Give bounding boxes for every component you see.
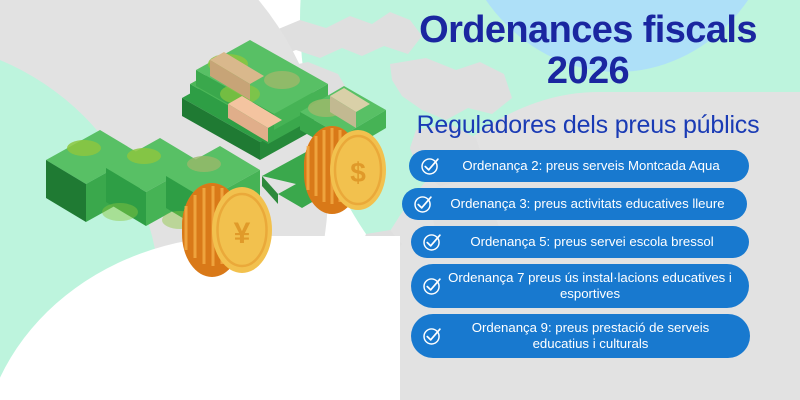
list-item-ordinance-3[interactable]: Ordenança 3: preus activitats educatives… [402, 188, 747, 220]
page-title: Ordenances fiscals 2026 [392, 10, 784, 91]
title-line-1: Ordenances fiscals [392, 10, 784, 51]
check-circle-icon [421, 231, 443, 253]
ordinance-list: Ordenança 2: preus serveis Montcada Aqua… [392, 150, 792, 364]
list-item-label: Ordenança 9: preus prestació de serveis … [443, 320, 738, 353]
list-item-label: Ordenança 7 preus ús instal·lacions educ… [443, 270, 737, 303]
gold-coin-yen: ¥ [182, 183, 272, 277]
check-circle-icon [419, 155, 441, 177]
check-circle-icon [421, 275, 443, 297]
check-circle-icon [421, 325, 443, 347]
title-line-2: 2026 [392, 51, 784, 92]
check-circle-icon [412, 193, 434, 215]
gold-coin-dollar: $ [304, 126, 386, 214]
list-item-label: Ordenança 5: preus servei escola bressol [447, 234, 737, 251]
poster-canvas: $ ¥ Ordenances fiscals 2026 Reguladores [0, 0, 800, 400]
list-item-label: Ordenança 2: preus serveis Montcada Aqua [445, 158, 737, 175]
svg-text:¥: ¥ [234, 217, 251, 250]
list-item-label: Ordenança 3: preus activitats educatives… [438, 196, 735, 213]
svg-text:$: $ [350, 157, 366, 188]
list-item-ordinance-7[interactable]: Ordenança 7 preus ús instal·lacions educ… [411, 264, 749, 308]
content-column: Ordenances fiscals 2026 Reguladores dels… [392, 0, 792, 400]
page-subtitle: Reguladores dels preus públics [392, 112, 784, 140]
banknote-stack-rear [182, 40, 328, 160]
list-item-ordinance-5[interactable]: Ordenança 5: preus servei escola bressol [411, 226, 749, 258]
money-illustration: $ ¥ [14, 20, 394, 290]
list-item-ordinance-9[interactable]: Ordenança 9: preus prestació de serveis … [411, 314, 750, 358]
list-item-ordinance-2[interactable]: Ordenança 2: preus serveis Montcada Aqua [409, 150, 749, 182]
